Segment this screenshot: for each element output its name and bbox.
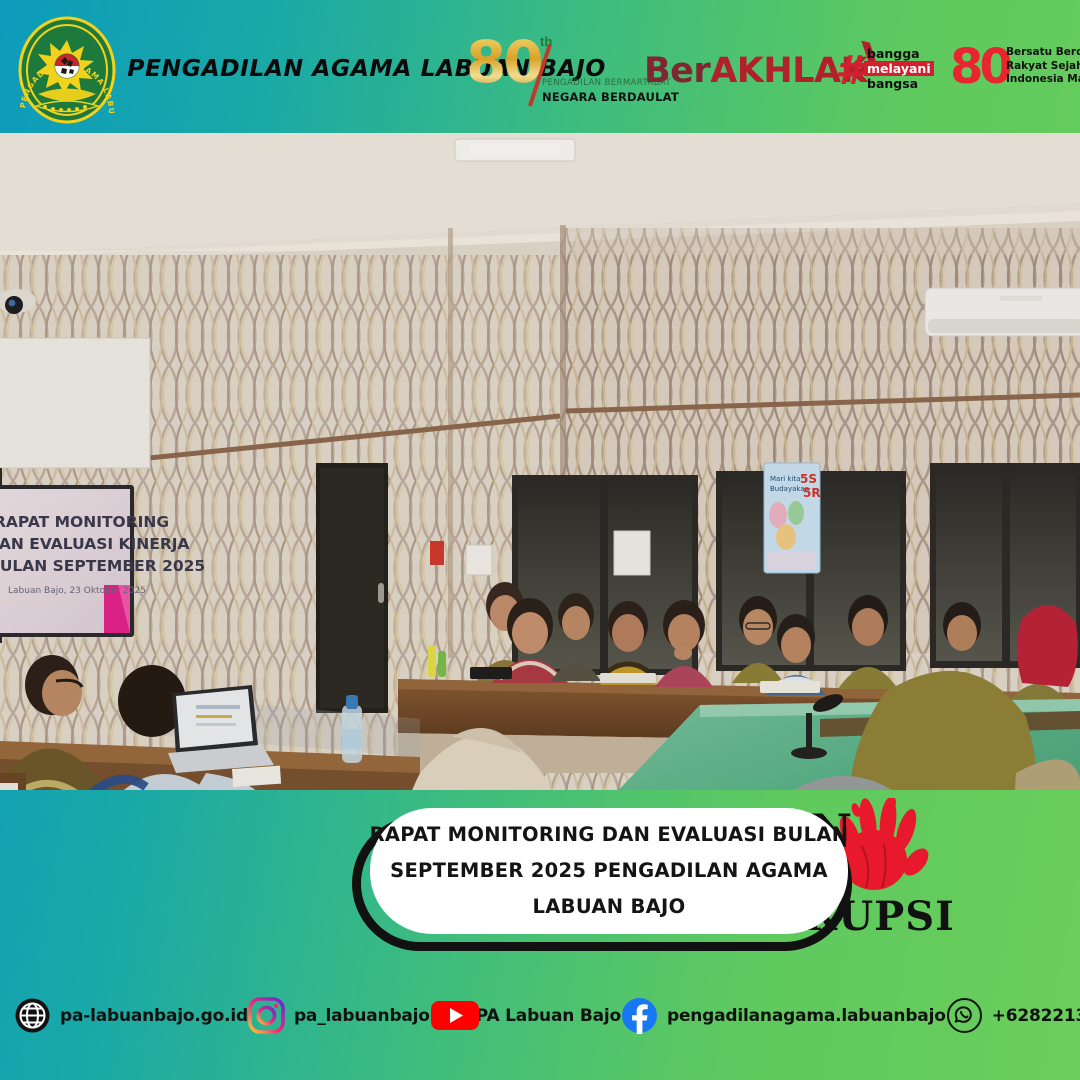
whatsapp-icon — [946, 997, 983, 1034]
facebook-icon — [621, 997, 658, 1034]
caption-line-3: LABUAN BAJO — [533, 889, 686, 925]
caption-line-1: RAPAT MONITORING DAN EVALUASI BULAN — [370, 817, 849, 853]
youtube-icon — [430, 997, 467, 1034]
instagram-icon — [248, 997, 285, 1034]
berakhlak-wordmark: BerAKHLAK — [644, 51, 867, 91]
caption-band: N K RUPSI RAPAT MONITORING DAN EVALUASI … — [0, 790, 1080, 985]
80th-suffix: th — [540, 34, 552, 49]
website-label: pa-labuanbajo.go.id — [60, 1006, 248, 1026]
ri80-line2: Rakyat Sejahtera — [1006, 60, 1080, 74]
bmb-line1: bangga — [864, 46, 934, 61]
berakhlak-logo: BerAKHLAK ❯ — [644, 48, 867, 94]
whatsapp-label: +6282213369895 — [992, 1006, 1080, 1026]
social-media-footer: pa-labuanbajo.go.id pa_labuanbajo — [0, 985, 1080, 1080]
youtube-label: PA Labuan Bajo — [476, 1006, 621, 1026]
footer-item-facebook[interactable]: pengadilanagama.labuanbajo — [621, 997, 946, 1034]
hashtag-icon: # — [835, 48, 863, 94]
bmb-line3: bangsa — [864, 76, 934, 91]
social-media-poster: PENGADILAN AGAMA LABUAN BAJO — [0, 0, 1080, 1080]
80th-number: 80 — [466, 28, 541, 96]
caption-line-2: SEPTEMBER 2025 PENGADILAN AGAMA — [390, 853, 828, 889]
bangga-melayani-bangsa-logo: # bangga melayani bangsa — [835, 44, 945, 94]
pengadilan-agama-labuan-bajo-seal-icon: PENGADILAN AGAMA LABUAN BAJO — [12, 14, 122, 126]
ri80-number: 80 — [950, 39, 1009, 95]
ri80-tagline: Bersatu Berdaulat Rakyat Sejahtera Indon… — [1006, 46, 1080, 87]
bmb-line2: melayani — [864, 61, 934, 76]
caption-callout: RAPAT MONITORING DAN EVALUASI BULAN SEPT… — [352, 816, 852, 951]
ri80-line3: Indonesia Maju — [1006, 73, 1080, 87]
footer-item-whatsapp[interactable]: +6282213369895 — [946, 997, 1080, 1034]
hut-ri-80-logo: 80 Bersatu Berdaulat Rakyat Sejahtera In… — [950, 44, 1076, 96]
footer-item-website[interactable]: pa-labuanbajo.go.id — [14, 997, 248, 1034]
poster-header: PENGADILAN AGAMA LABUAN BAJO — [0, 0, 1080, 133]
globe-icon — [14, 997, 51, 1034]
facebook-label: pengadilanagama.labuanbajo — [667, 1006, 946, 1026]
bmb-lines: bangga melayani bangsa — [864, 46, 934, 91]
instagram-label: pa_labuanbajo — [294, 1006, 430, 1026]
footer-item-youtube[interactable]: PA Labuan Bajo — [430, 997, 621, 1034]
berakhlak-prefix: Ber — [644, 51, 710, 91]
ri80-line1: Bersatu Berdaulat — [1006, 46, 1080, 60]
caption-text-box: RAPAT MONITORING DAN EVALUASI BULAN SEPT… — [370, 808, 848, 934]
meeting-photo: RAPAT MONITORING DAN EVALUASI KINERJA BU… — [0, 133, 1080, 790]
footer-item-instagram[interactable]: pa_labuanbajo — [248, 997, 430, 1034]
mahkamah-agung-80th-logo: 80 th PENGADILAN BERMARTABAT NEGARA BERD… — [466, 34, 636, 112]
